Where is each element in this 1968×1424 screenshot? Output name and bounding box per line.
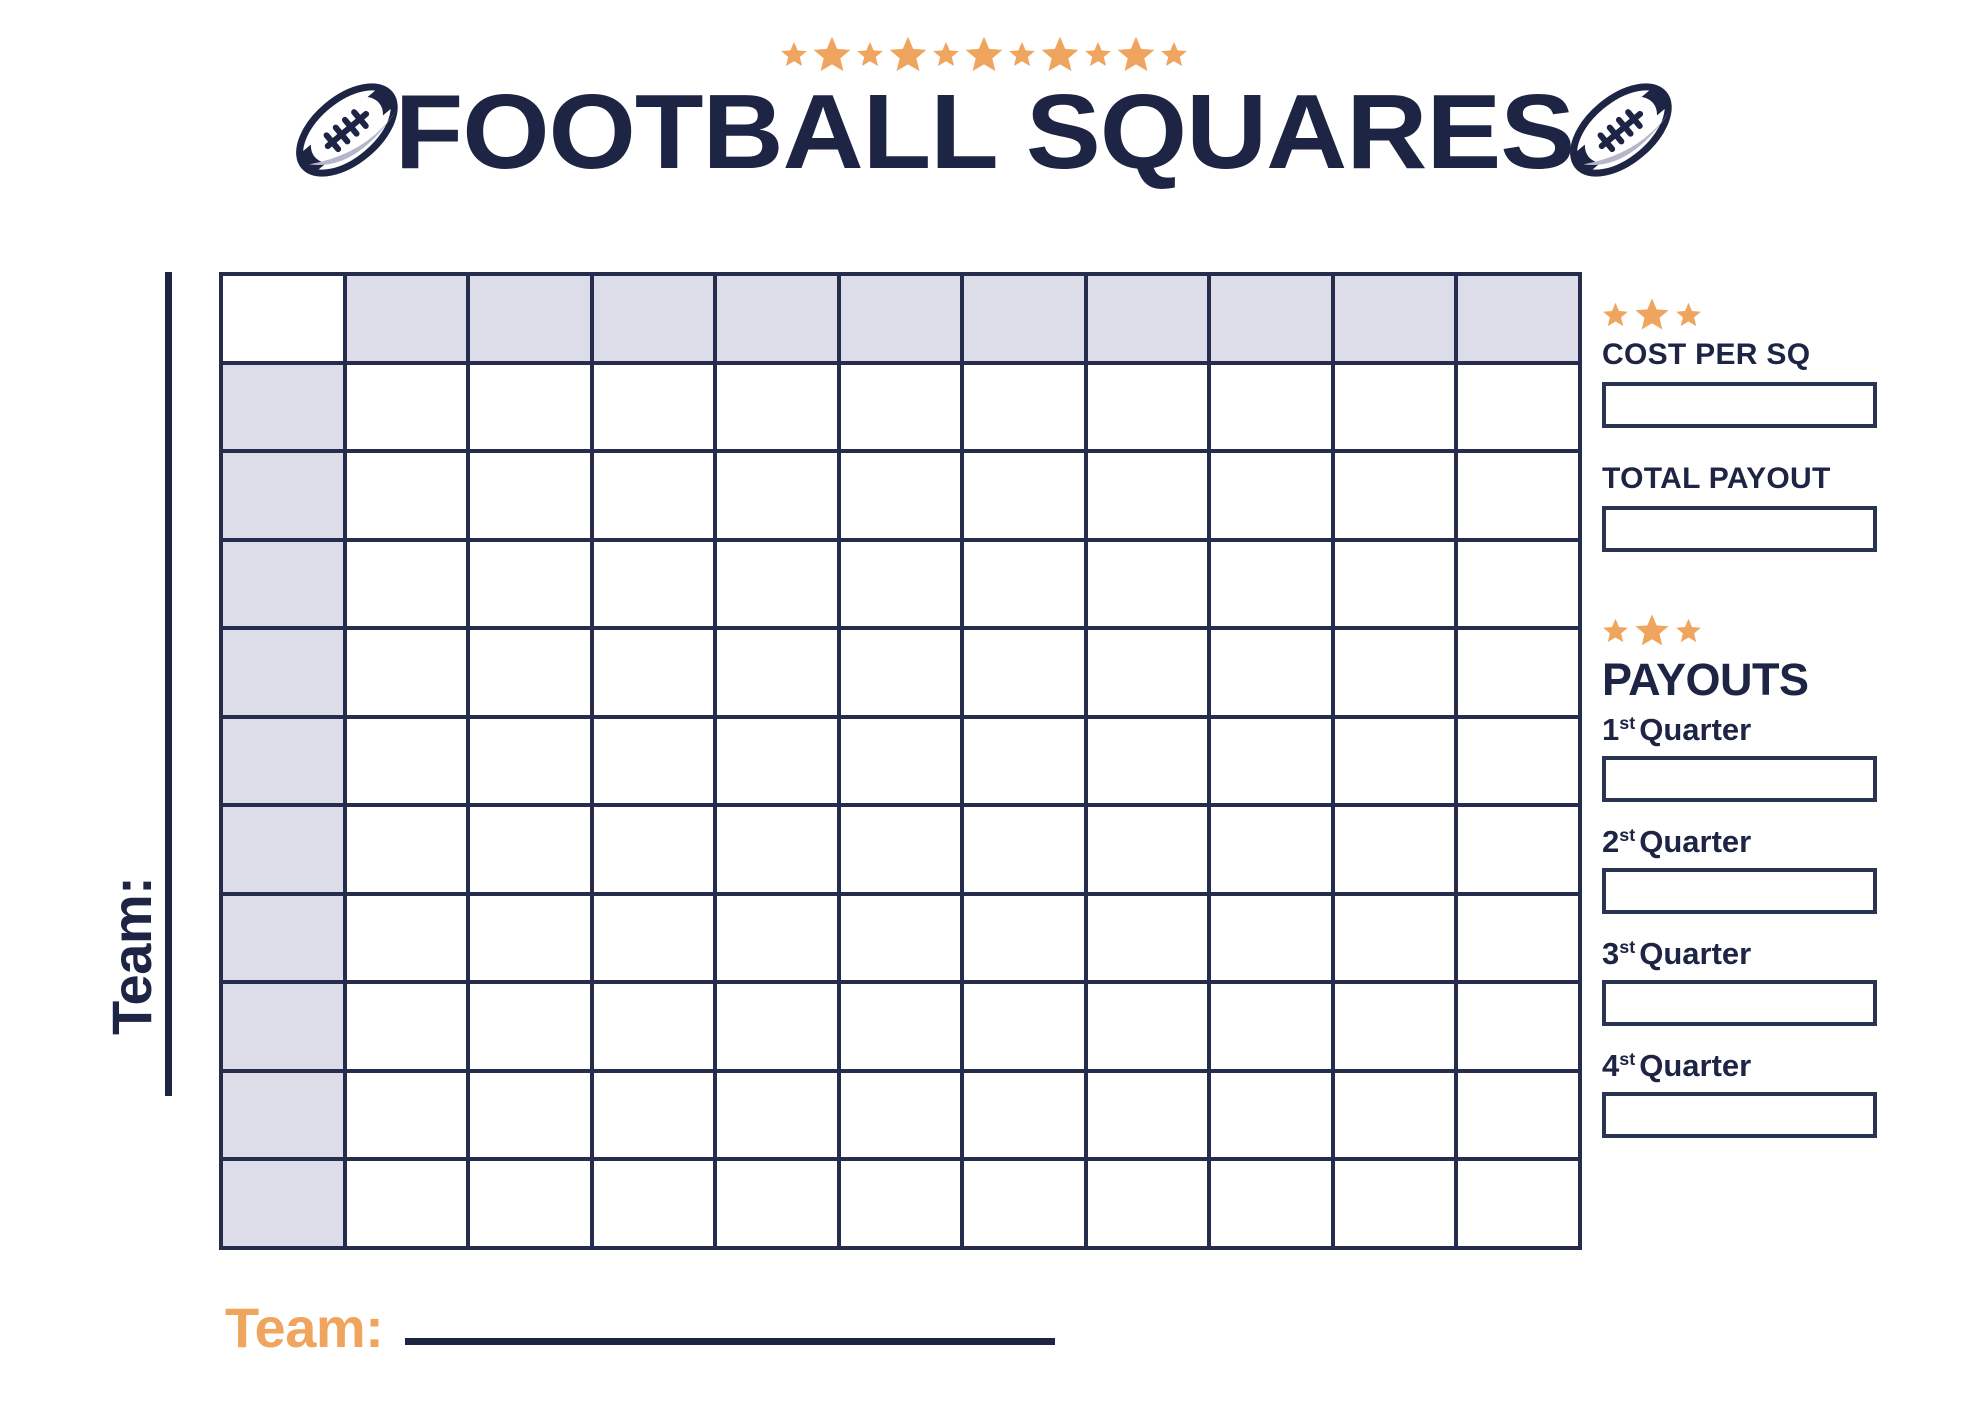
sidebar: COST PER SQ TOTAL PAYOUT PAYOUTS 1stQuar… xyxy=(1602,296,1892,1160)
grid-header-row-cell[interactable] xyxy=(223,1161,347,1250)
grid-cell[interactable] xyxy=(841,984,965,1073)
grid-cell[interactable] xyxy=(594,984,718,1073)
grid-header-row-cell[interactable] xyxy=(223,542,347,631)
payout-quarter-word: Quarter xyxy=(1639,712,1751,747)
grid-cell[interactable] xyxy=(1088,1161,1212,1250)
grid-header-column-cell[interactable] xyxy=(1088,276,1212,365)
cost-per-sq-input[interactable] xyxy=(1602,382,1877,428)
grid-cell[interactable] xyxy=(347,807,471,896)
grid-cell[interactable] xyxy=(717,453,841,542)
payout-quarter-word: Quarter xyxy=(1639,1048,1751,1083)
payouts-heading: PAYOUTS xyxy=(1602,654,1892,706)
grid-cell[interactable] xyxy=(1211,807,1335,896)
grid-header-column-cell[interactable] xyxy=(841,276,965,365)
grid-cell[interactable] xyxy=(1088,453,1212,542)
spacer xyxy=(1602,428,1892,462)
grid-cell[interactable] xyxy=(1458,630,1582,719)
grid-header-row-cell[interactable] xyxy=(223,896,347,985)
grid-header-column-cell[interactable] xyxy=(964,276,1088,365)
star-icon xyxy=(1602,617,1629,644)
grid-cell[interactable] xyxy=(1458,365,1582,454)
payouts-section-star-row xyxy=(1602,612,1892,648)
payout-quarter-input[interactable] xyxy=(1602,868,1877,914)
grid-cell[interactable] xyxy=(1211,984,1335,1073)
grid-cell[interactable] xyxy=(964,896,1088,985)
grid-cell[interactable] xyxy=(717,1161,841,1250)
grid-cell[interactable] xyxy=(964,630,1088,719)
grid-cell[interactable] xyxy=(1211,1161,1335,1250)
grid-header-column-cell[interactable] xyxy=(1458,276,1582,365)
grid-header-row-cell[interactable] xyxy=(223,719,347,808)
payout-quarter-ordinal: 3 xyxy=(1602,936,1619,971)
payout-quarter-block: 2stQuarter xyxy=(1602,824,1892,914)
grid-cell[interactable] xyxy=(594,542,718,631)
grid-cell[interactable] xyxy=(1211,453,1335,542)
grid-cell[interactable] xyxy=(594,719,718,808)
grid-cell[interactable] xyxy=(1088,984,1212,1073)
grid-cell[interactable] xyxy=(470,896,594,985)
grid-header-row-cell[interactable] xyxy=(223,453,347,542)
grid-cell[interactable] xyxy=(1335,542,1459,631)
grid-cell[interactable] xyxy=(1335,896,1459,985)
grid-cell[interactable] xyxy=(717,807,841,896)
grid-cell[interactable] xyxy=(470,630,594,719)
payout-quarter-suffix: st xyxy=(1619,1049,1635,1069)
grid-cell[interactable] xyxy=(347,984,471,1073)
cost-section-star-row xyxy=(1602,296,1892,332)
star-icon xyxy=(1675,617,1702,644)
payout-quarter-suffix: st xyxy=(1619,937,1635,957)
grid-cell[interactable] xyxy=(470,807,594,896)
grid-cell[interactable] xyxy=(717,984,841,1073)
grid-cell[interactable] xyxy=(1211,365,1335,454)
payout-quarter-word: Quarter xyxy=(1639,824,1751,859)
payout-quarters-list: 1stQuarter2stQuarter3stQuarter4stQuarter xyxy=(1602,712,1892,1138)
grid-cell[interactable] xyxy=(717,719,841,808)
grid-cell[interactable] xyxy=(717,1073,841,1162)
grid-header-column-cell[interactable] xyxy=(470,276,594,365)
grid-cell[interactable] xyxy=(470,719,594,808)
grid-header-row-cell[interactable] xyxy=(223,1073,347,1162)
payout-quarter-label: 1stQuarter xyxy=(1602,712,1892,748)
grid-cell[interactable] xyxy=(1335,719,1459,808)
grid-cell[interactable] xyxy=(1458,1161,1582,1250)
payout-quarter-ordinal: 4 xyxy=(1602,1048,1619,1083)
grid-cell[interactable] xyxy=(347,1073,471,1162)
team-bottom-row: Team: xyxy=(225,1300,1055,1356)
grid-cell[interactable] xyxy=(717,542,841,631)
star-icon xyxy=(1675,301,1702,328)
grid-cell[interactable] xyxy=(1335,807,1459,896)
grid-cell[interactable] xyxy=(1458,807,1582,896)
grid-cell[interactable] xyxy=(1088,630,1212,719)
grid-cell[interactable] xyxy=(347,1161,471,1250)
grid-cell[interactable] xyxy=(347,453,471,542)
grid-header-row-cell[interactable] xyxy=(223,984,347,1073)
star-icon xyxy=(1602,301,1629,328)
star-icon xyxy=(1634,612,1670,648)
grid-corner-cell[interactable] xyxy=(223,276,347,365)
star-icon xyxy=(1634,296,1670,332)
grid-header-row-cell[interactable] xyxy=(223,807,347,896)
grid-cell[interactable] xyxy=(594,630,718,719)
team-vertical-rule xyxy=(165,272,172,1096)
team-vertical-label: Team: xyxy=(96,785,166,1035)
grid-cell[interactable] xyxy=(1088,1073,1212,1162)
grid-cell[interactable] xyxy=(1211,1073,1335,1162)
grid-cell[interactable] xyxy=(594,807,718,896)
grid-cell[interactable] xyxy=(1088,896,1212,985)
grid-cell[interactable] xyxy=(841,1161,965,1250)
payout-quarter-label: 2stQuarter xyxy=(1602,824,1892,860)
grid-cell[interactable] xyxy=(841,630,965,719)
grid-cell[interactable] xyxy=(594,1161,718,1250)
payout-quarter-ordinal: 2 xyxy=(1602,824,1619,859)
grid-cell[interactable] xyxy=(1088,719,1212,808)
grid-cell[interactable] xyxy=(1335,630,1459,719)
grid-cell[interactable] xyxy=(841,719,965,808)
header: FOOTBALL SQUARES xyxy=(0,62,1968,202)
football-icon xyxy=(286,73,408,190)
payout-quarter-block: 3stQuarter xyxy=(1602,936,1892,1026)
cost-per-sq-label: COST PER SQ xyxy=(1602,338,1892,372)
grid-cell[interactable] xyxy=(1211,542,1335,631)
grid-cell[interactable] xyxy=(1335,1073,1459,1162)
total-payout-label: TOTAL PAYOUT xyxy=(1602,462,1892,496)
grid-cell[interactable] xyxy=(594,453,718,542)
payout-quarter-label: 3stQuarter xyxy=(1602,936,1892,972)
grid-cell[interactable] xyxy=(470,453,594,542)
grid-cell[interactable] xyxy=(347,719,471,808)
grid-cell[interactable] xyxy=(1458,984,1582,1073)
grid-cell[interactable] xyxy=(964,453,1088,542)
spacer xyxy=(1602,552,1892,612)
grid-cell[interactable] xyxy=(841,365,965,454)
grid-cell[interactable] xyxy=(594,1073,718,1162)
grid-cell[interactable] xyxy=(964,984,1088,1073)
grid-header-row-cell[interactable] xyxy=(223,365,347,454)
grid-cell[interactable] xyxy=(717,630,841,719)
grid-cell[interactable] xyxy=(1458,896,1582,985)
grid-cell[interactable] xyxy=(1458,542,1582,631)
grid-cell[interactable] xyxy=(470,365,594,454)
grid-cell[interactable] xyxy=(1211,896,1335,985)
grid-cell[interactable] xyxy=(1458,453,1582,542)
grid-cell[interactable] xyxy=(841,807,965,896)
grid-cell[interactable] xyxy=(964,365,1088,454)
grid-cell[interactable] xyxy=(1335,365,1459,454)
payout-quarter-label: 4stQuarter xyxy=(1602,1048,1892,1084)
grid-cell[interactable] xyxy=(594,365,718,454)
payout-quarter-suffix: st xyxy=(1619,825,1635,845)
football-icon xyxy=(1560,73,1682,190)
grid-cell[interactable] xyxy=(841,453,965,542)
grid-cell[interactable] xyxy=(347,896,471,985)
grid-cell[interactable] xyxy=(717,365,841,454)
page-title: FOOTBALL SQUARES xyxy=(394,79,1573,185)
squares-grid[interactable] xyxy=(219,272,1582,1250)
grid-cell[interactable] xyxy=(841,1073,965,1162)
payout-quarter-suffix: st xyxy=(1619,713,1635,733)
grid-cell[interactable] xyxy=(1335,984,1459,1073)
grid-cell[interactable] xyxy=(1458,1073,1582,1162)
grid-cell[interactable] xyxy=(347,630,471,719)
grid-cell[interactable] xyxy=(964,719,1088,808)
grid-cell[interactable] xyxy=(1335,1161,1459,1250)
grid-cell[interactable] xyxy=(470,984,594,1073)
grid-cell[interactable] xyxy=(964,807,1088,896)
grid-cell[interactable] xyxy=(470,1073,594,1162)
grid-cell[interactable] xyxy=(470,542,594,631)
grid-cell[interactable] xyxy=(841,896,965,985)
grid-header-column-cell[interactable] xyxy=(1211,276,1335,365)
grid-header-column-cell[interactable] xyxy=(594,276,718,365)
grid-cell[interactable] xyxy=(1211,719,1335,808)
grid-cell[interactable] xyxy=(1335,453,1459,542)
grid-header-column-cell[interactable] xyxy=(347,276,471,365)
grid-cell[interactable] xyxy=(1088,365,1212,454)
grid-cell[interactable] xyxy=(964,542,1088,631)
grid-cell[interactable] xyxy=(1211,630,1335,719)
grid-cell[interactable] xyxy=(470,1161,594,1250)
team-bottom-label: Team: xyxy=(225,1300,383,1356)
grid-header-row-cell[interactable] xyxy=(223,630,347,719)
payout-quarter-block: 4stQuarter xyxy=(1602,1048,1892,1138)
payout-quarter-ordinal: 1 xyxy=(1602,712,1619,747)
grid-cell[interactable] xyxy=(717,896,841,985)
grid-cell[interactable] xyxy=(1088,807,1212,896)
grid-cell[interactable] xyxy=(1458,719,1582,808)
grid-header-column-cell[interactable] xyxy=(1335,276,1459,365)
grid-cell[interactable] xyxy=(1088,542,1212,631)
payout-quarter-input[interactable] xyxy=(1602,980,1877,1026)
grid-cell[interactable] xyxy=(841,542,965,631)
payout-quarter-input[interactable] xyxy=(1602,1092,1877,1138)
grid-cell[interactable] xyxy=(964,1073,1088,1162)
grid-cell[interactable] xyxy=(594,896,718,985)
payout-quarter-block: 1stQuarter xyxy=(1602,712,1892,802)
payout-quarter-word: Quarter xyxy=(1639,936,1751,971)
total-payout-input[interactable] xyxy=(1602,506,1877,552)
grid-cell[interactable] xyxy=(964,1161,1088,1250)
grid-cell[interactable] xyxy=(347,542,471,631)
grid-cell[interactable] xyxy=(347,365,471,454)
grid-header-column-cell[interactable] xyxy=(717,276,841,365)
team-bottom-rule[interactable] xyxy=(405,1338,1055,1345)
football-squares-page: FOOTBALL SQUARES xyxy=(0,0,1968,1424)
payout-quarter-input[interactable] xyxy=(1602,756,1877,802)
